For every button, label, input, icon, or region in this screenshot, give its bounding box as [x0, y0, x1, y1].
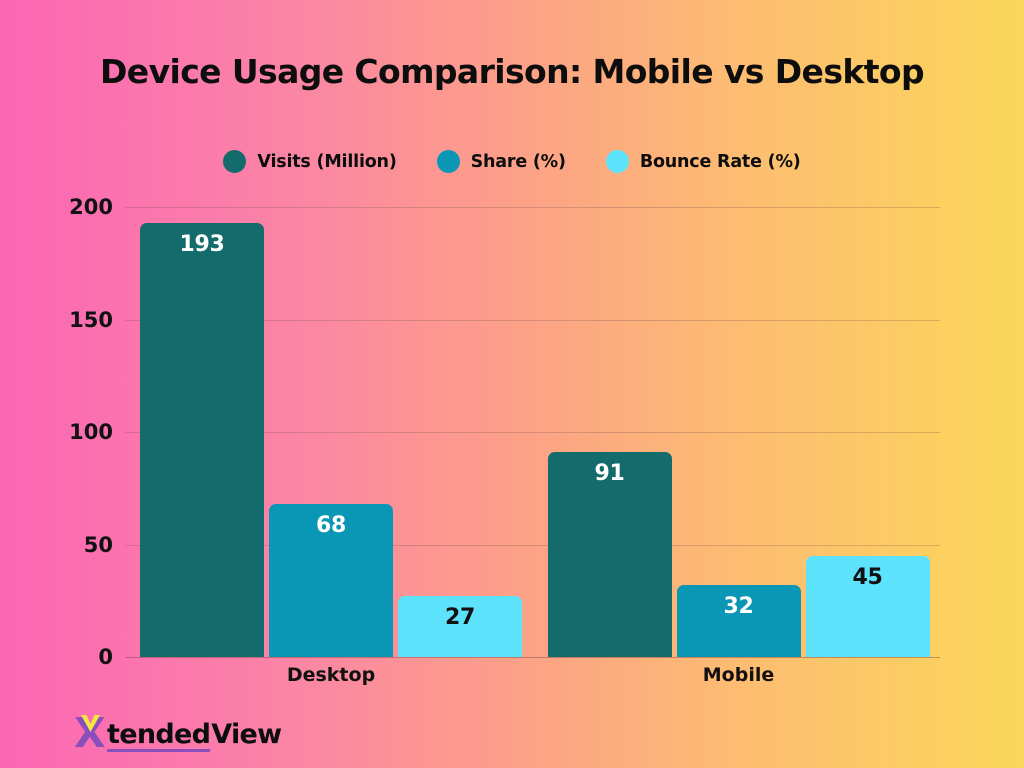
bar-value-label: 91: [548, 461, 672, 486]
plot-area: 1936827913245: [125, 207, 940, 657]
chart-legend: Visits (Million) Share (%) Bounce Rate (…: [0, 150, 1024, 173]
bar[interactable]: 27: [398, 596, 522, 657]
y-axis-tick-label: 150: [69, 308, 113, 332]
bar-value-label: 32: [677, 594, 801, 619]
logo-x-mark: X: [74, 714, 108, 752]
gridline: [125, 207, 940, 208]
page-title: Device Usage Comparison: Mobile vs Deskt…: [0, 52, 1024, 91]
legend-item-label: Bounce Rate (%): [640, 152, 801, 172]
bar-value-label: 193: [140, 232, 264, 257]
logo-word-one: tended: [107, 720, 210, 749]
legend-item-share[interactable]: Share (%): [437, 150, 566, 173]
y-axis-tick-label: 50: [84, 533, 113, 557]
chart-canvas: Device Usage Comparison: Mobile vs Deskt…: [0, 0, 1024, 768]
x-axis-category-label: Desktop: [287, 664, 375, 686]
brand-logo[interactable]: X tended View: [74, 706, 281, 752]
chevron-down-icon: [81, 715, 100, 732]
bar-value-label: 68: [269, 513, 393, 538]
bar-value-label: 27: [398, 605, 522, 630]
legend-item-label: Visits (Million): [257, 152, 396, 172]
y-axis-tick-label: 100: [69, 420, 113, 444]
bar[interactable]: 91: [548, 452, 672, 657]
logo-word-two: View: [211, 720, 281, 752]
bar[interactable]: 45: [806, 556, 930, 657]
y-axis-tick-label: 0: [98, 645, 113, 669]
bar[interactable]: 193: [140, 223, 264, 657]
y-axis: 050100150200: [0, 207, 113, 657]
logo-word-one-wrap: tended: [107, 720, 210, 752]
x-axis-category-label: Mobile: [703, 664, 774, 686]
legend-item-label: Share (%): [471, 152, 566, 172]
legend-swatch-icon: [437, 150, 460, 173]
logo-underline: [107, 749, 210, 752]
legend-item-visits[interactable]: Visits (Million): [223, 150, 396, 173]
bar[interactable]: 68: [269, 504, 393, 657]
legend-swatch-icon: [223, 150, 246, 173]
legend-item-bounce-rate[interactable]: Bounce Rate (%): [606, 150, 801, 173]
legend-swatch-icon: [606, 150, 629, 173]
bar-value-label: 45: [806, 565, 930, 590]
gridline: [125, 657, 940, 658]
y-axis-tick-label: 200: [69, 195, 113, 219]
bar[interactable]: 32: [677, 585, 801, 657]
